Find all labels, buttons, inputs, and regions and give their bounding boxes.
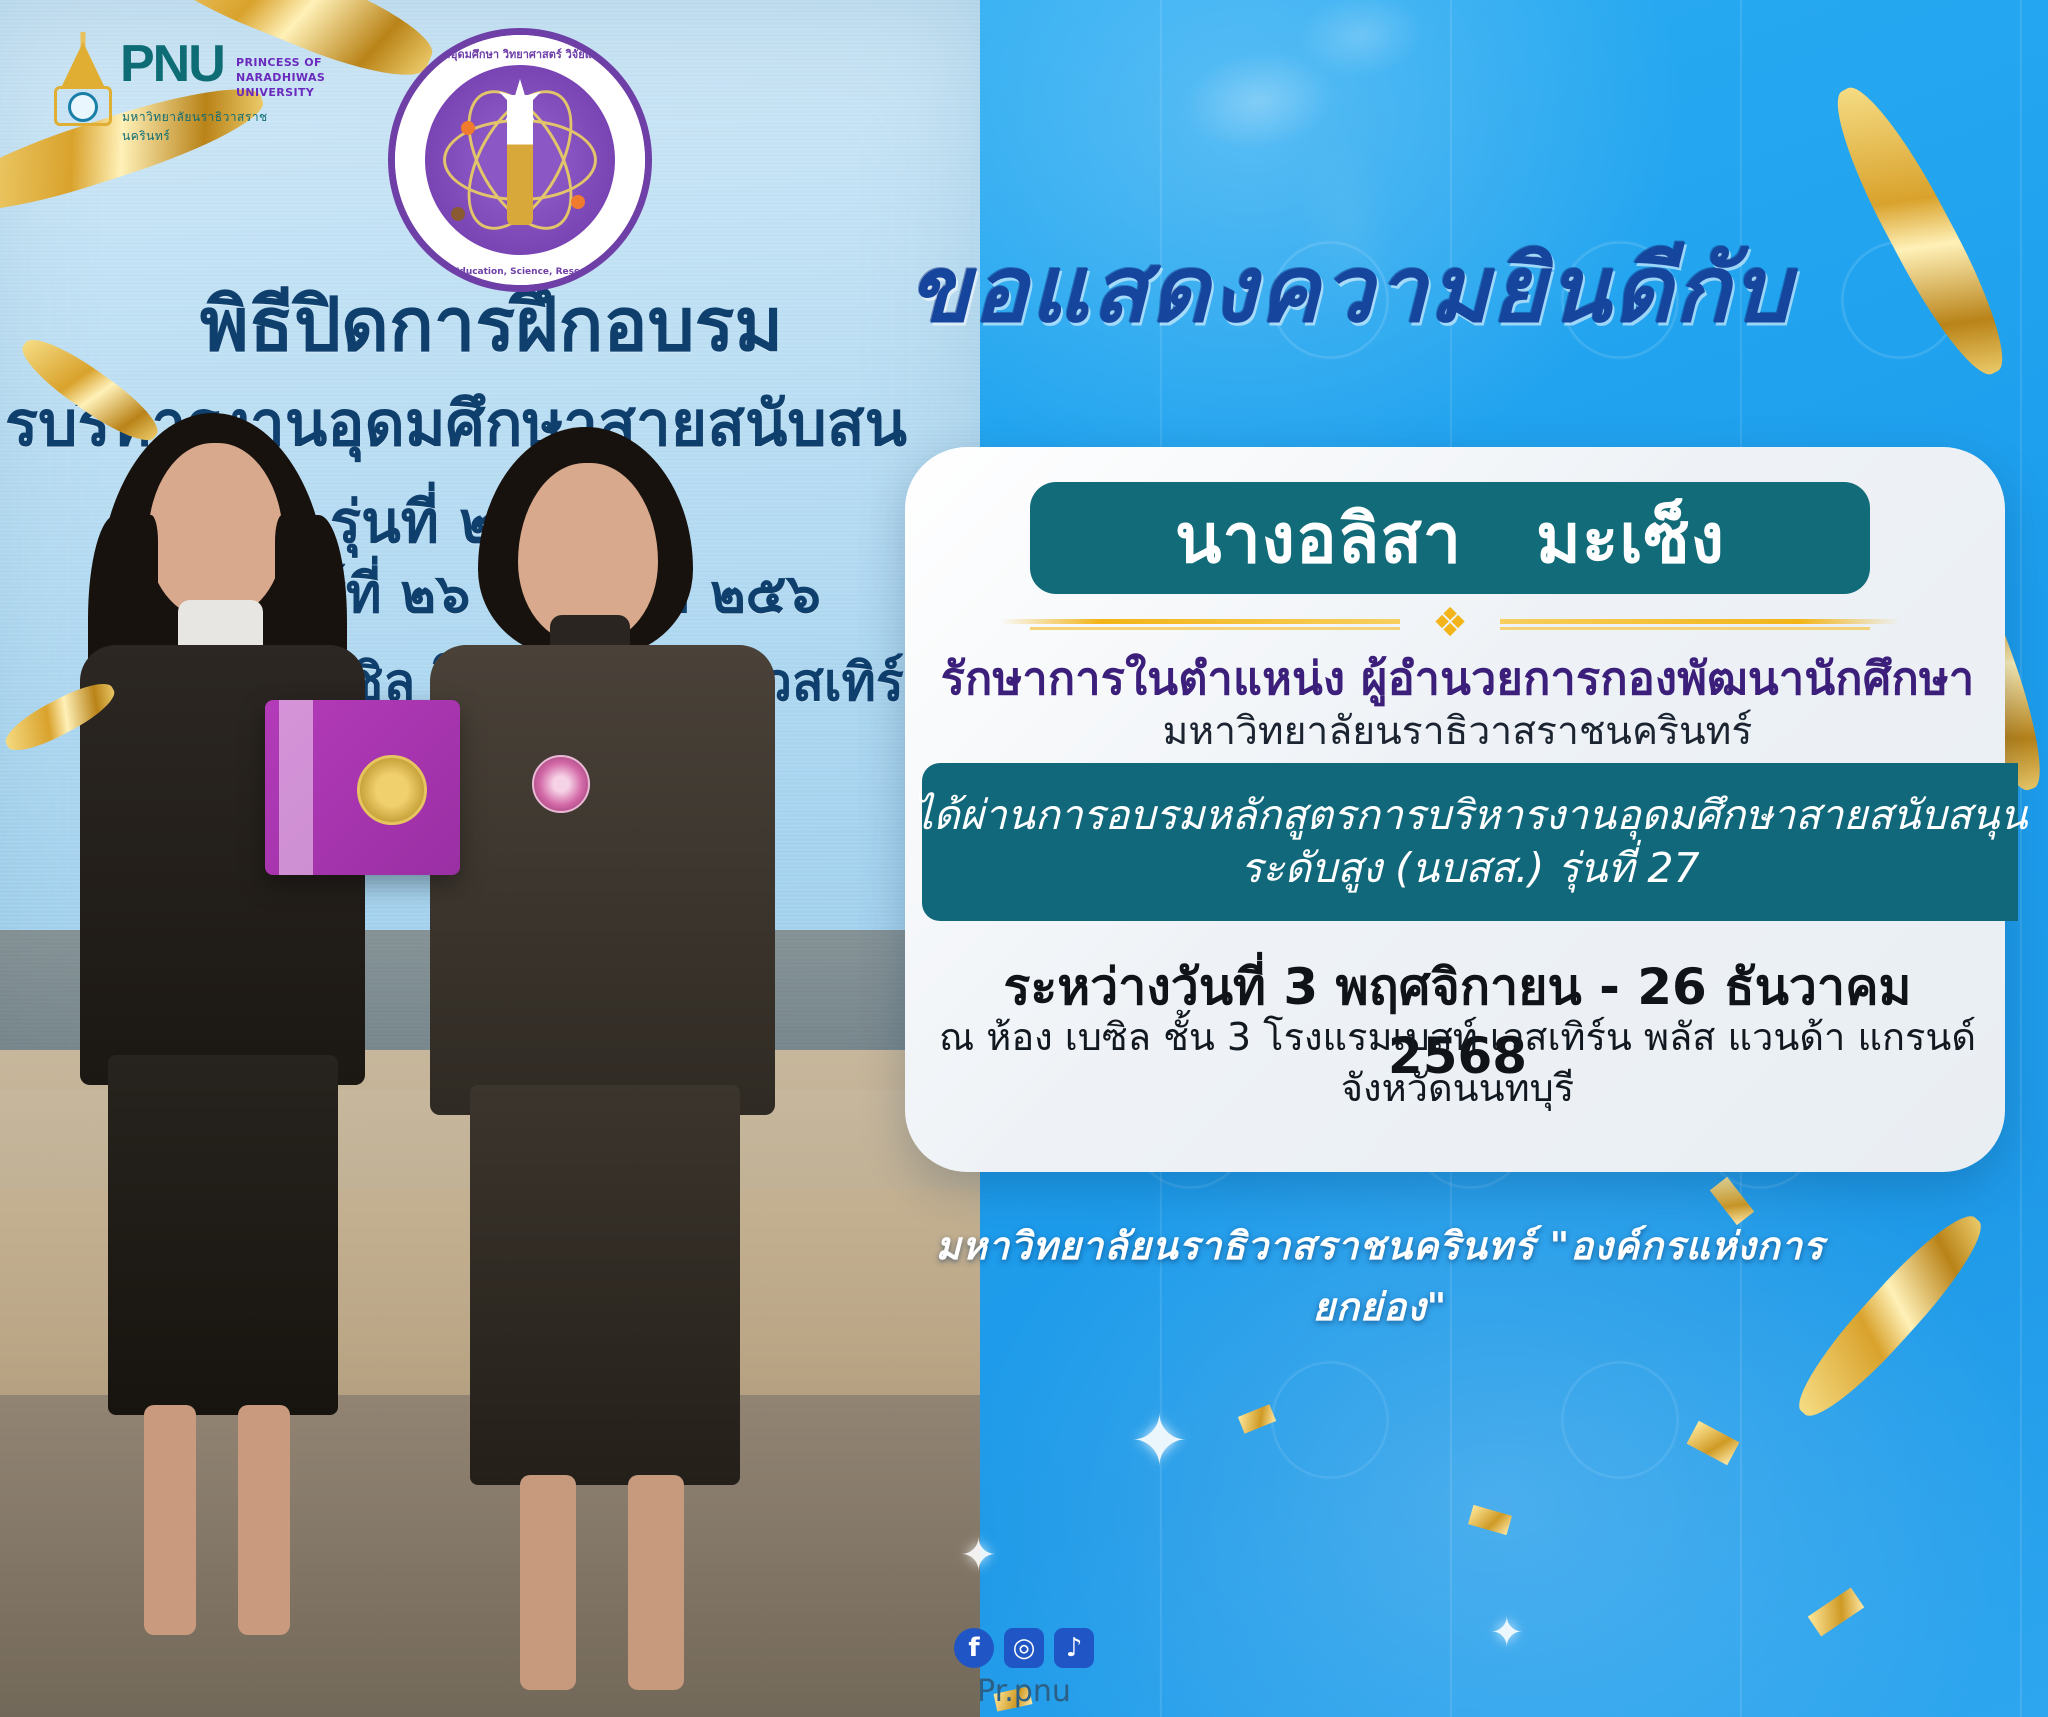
honoree-name: นางอลิสา มะเซ็ง (1175, 484, 1725, 592)
page-title: ขอแสดงความยินดีกับ (760, 215, 1940, 362)
stupa-icon (50, 36, 116, 132)
pnu-thai-name: มหาวิทยาลัยนราธิวาสราชนครินทร์ (122, 108, 290, 146)
pnu-logo: PNU มหาวิทยาลัยนราธิวาสราชนครินทร์ PRINC… (40, 28, 290, 138)
event-venue: ณ ห้อง เบซิล ชั้น 3 โรงแรมเบสท์ เวสเทิร์… (930, 1012, 1985, 1115)
pnu-wordmark: PNU (120, 34, 224, 94)
ministry-seal-thai: กระทรวงการอุดมศึกษา วิทยาศาสตร์ วิจัยและ… (395, 45, 645, 63)
instagram-icon[interactable]: ◎ (1004, 1628, 1044, 1668)
certificate-folder (265, 700, 460, 875)
venue-line-1: ณ ห้อง เบซิล ชั้น 3 โรงแรมเบสท์ เวสเทิร์… (930, 1012, 1985, 1063)
person-left (70, 395, 400, 1685)
ministry-seal: กระทรวงการอุดมศึกษา วิทยาศาสตร์ วิจัยและ… (395, 35, 645, 285)
achievement-line-1: ได้ผ่านการอบรมหลักสูตรการบริหารงานอุดมศึ… (913, 789, 2028, 842)
honoree-name-pill: นางอลิสา มะเซ็ง (1030, 482, 1870, 594)
person-right (400, 415, 800, 1715)
social-handle: Pr.pnu (924, 1674, 1124, 1709)
ministry-seal-ring-text: กระทรวงการอุดมศึกษา วิทยาศาสตร์ วิจัยและ… (395, 35, 645, 285)
ornamental-divider: ❖ (1000, 610, 1900, 636)
achievement-band: ได้ผ่านการอบรมหลักสูตรการบริหารงานอุดมศึ… (922, 763, 2018, 921)
ministry-seal-english: Ministry of Higher Education, Science, R… (395, 267, 645, 277)
tiktok-icon[interactable]: ♪ (1054, 1628, 1094, 1668)
sparkle-star-3: ✦ (1490, 1610, 1524, 1656)
achievement-line-2: ระดับสูง (นบสส.) รุ่นที่ 27 (1240, 842, 1699, 895)
honoree-organization: มหาวิทยาลัยนราธิวาสราชนครินทร์ (930, 700, 1985, 762)
social-links: f ◎ ♪ Pr.pnu (924, 1628, 1124, 1710)
sparkle-star-1: ✦ (1130, 1400, 1189, 1482)
venue-line-2: จังหวัดนนทบุรี (930, 1063, 1985, 1114)
diamond-ornament-icon: ❖ (1432, 604, 1468, 642)
pnu-english-name: PRINCESS OF NARADHIWAS UNIVERSITY (236, 56, 325, 101)
congratulations-poster: พิธีปิดการฝึกอบรม ารบริหารงานอุดมศึกษาสา… (0, 0, 2048, 1717)
university-tagline: มหาวิทยาลัยนราธิวาสราชนครินทร์ "องค์กรแห… (880, 1215, 1880, 1337)
facebook-icon[interactable]: f (954, 1628, 994, 1668)
sparkle-star-2: ✦ (960, 1530, 997, 1581)
